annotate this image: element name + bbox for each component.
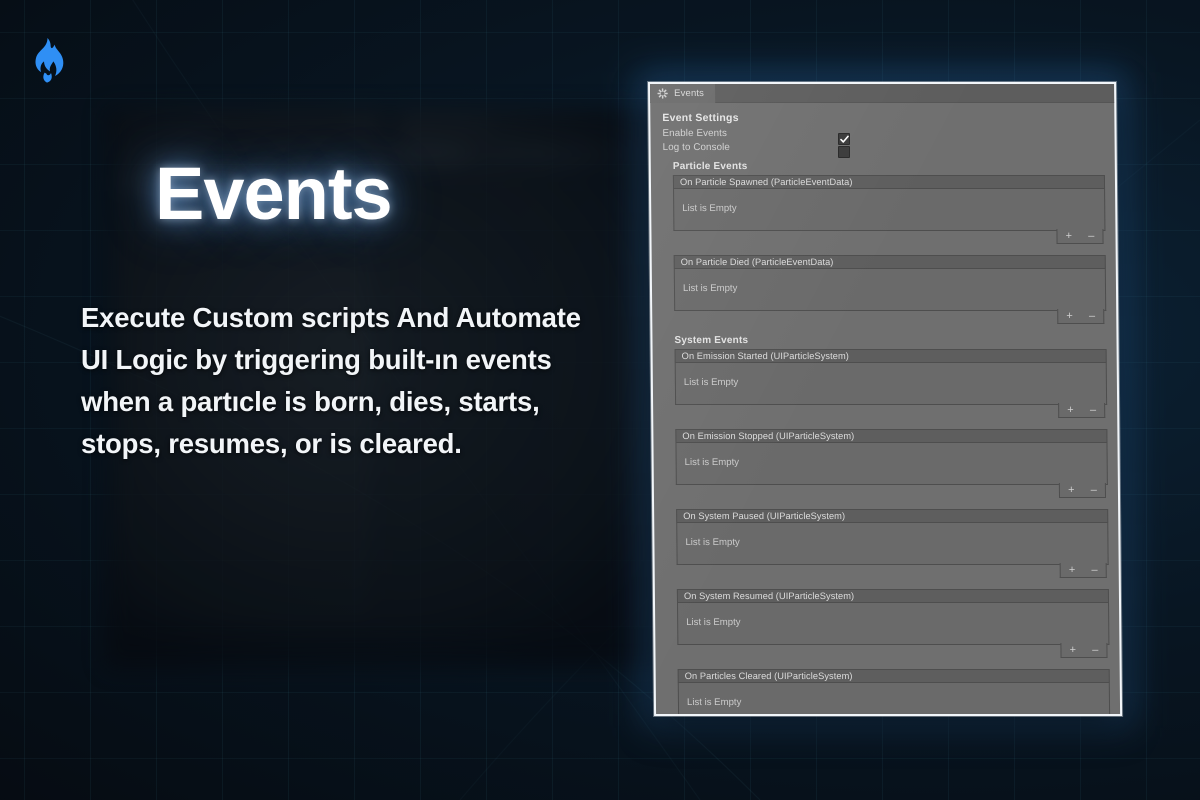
add-listener-button[interactable]: + <box>1063 230 1076 241</box>
panel-tab-bar: Events <box>650 84 1114 103</box>
event-empty-text: List is Empty <box>673 189 1105 231</box>
remove-listener-button[interactable]: – <box>1086 310 1098 321</box>
event-list-on-particle-died: On Particle Died (ParticleEventData) Lis… <box>674 255 1107 326</box>
event-footer: + – <box>675 405 1107 420</box>
flame-logo <box>24 36 68 84</box>
event-list-on-system-resumed: On System Resumed (UIParticleSystem) Lis… <box>677 589 1110 660</box>
script-gear-icon <box>657 87 668 98</box>
enable-events-checkbox[interactable] <box>838 133 850 145</box>
remove-listener-button[interactable]: – <box>1087 404 1099 415</box>
event-empty-text: List is Empty <box>676 523 1108 565</box>
event-header: On System Resumed (UIParticleSystem) <box>677 589 1109 603</box>
remove-listener-button[interactable]: – <box>1089 644 1101 655</box>
group-title-particle-events: Particle Events <box>673 161 1105 172</box>
event-empty-text: List is Empty <box>675 443 1107 485</box>
event-header: On System Paused (UIParticleSystem) <box>676 509 1108 523</box>
event-footer: + – <box>677 645 1109 660</box>
event-footer: + – <box>674 311 1106 326</box>
event-list-on-emission-started: On Emission Started (UIParticleSystem) L… <box>675 349 1108 420</box>
event-list-on-system-paused: On System Paused (UIParticleSystem) List… <box>676 509 1109 580</box>
group-title-system-events: System Events <box>674 335 1106 346</box>
setting-row-enable-events[interactable]: Enable Events <box>662 127 1104 140</box>
remove-listener-button[interactable]: – <box>1088 484 1100 495</box>
event-header: On Particles Cleared (UIParticleSystem) <box>678 669 1110 683</box>
page-title: Events <box>155 157 392 231</box>
hero-description: Execute Custom scripts And Automate UI L… <box>81 297 581 465</box>
event-header: On Particle Died (ParticleEventData) <box>674 255 1106 269</box>
event-header: On Particle Spawned (ParticleEventData) <box>673 175 1105 189</box>
tab-events-label: Events <box>674 87 704 98</box>
event-list-buttons: + – <box>1058 403 1105 418</box>
tab-events[interactable]: Events <box>650 83 715 102</box>
add-listener-button[interactable]: + <box>1064 404 1077 415</box>
event-footer: + – <box>673 231 1105 246</box>
setting-row-log-to-console[interactable]: Log to Console <box>663 141 1105 154</box>
promo-slide: Events Execute Custom scripts And Automa… <box>0 0 1200 800</box>
event-list-buttons: + – <box>1059 483 1106 498</box>
events-inspector-panel: Events Event Settings Enable Events Log … <box>648 82 1122 716</box>
add-listener-button[interactable]: + <box>1067 644 1080 655</box>
event-empty-text: List is Empty <box>675 363 1107 405</box>
event-empty-text: List is Empty <box>678 683 1110 716</box>
event-list-buttons: + – <box>1057 309 1104 324</box>
event-list-on-particle-spawned: On Particle Spawned (ParticleEventData) … <box>673 175 1106 246</box>
event-settings-title: Event Settings <box>662 112 1104 124</box>
flame-icon <box>24 36 68 84</box>
event-list-buttons: + – <box>1060 563 1107 578</box>
panel-content: Event Settings Enable Events Log to Cons… <box>650 103 1120 716</box>
event-header: On Emission Started (UIParticleSystem) <box>675 349 1107 363</box>
add-listener-button[interactable]: + <box>1063 310 1076 321</box>
add-listener-button[interactable]: + <box>1065 484 1078 495</box>
event-list-buttons: + – <box>1056 229 1103 244</box>
event-footer: + – <box>676 485 1108 500</box>
panel-frame: Events Event Settings Enable Events Log … <box>648 82 1122 716</box>
check-icon <box>840 135 849 144</box>
remove-listener-button[interactable]: – <box>1088 564 1100 575</box>
event-empty-text: List is Empty <box>674 269 1106 311</box>
log-to-console-label: Log to Console <box>663 142 730 153</box>
event-list-buttons: + – <box>1060 643 1107 658</box>
event-empty-text: List is Empty <box>677 603 1109 645</box>
event-header: On Emission Stopped (UIParticleSystem) <box>675 429 1107 443</box>
event-list-on-emission-stopped: On Emission Stopped (UIParticleSystem) L… <box>675 429 1108 500</box>
log-to-console-checkbox[interactable] <box>838 146 850 158</box>
event-footer: + – <box>677 565 1109 580</box>
remove-listener-button[interactable]: – <box>1085 230 1097 241</box>
enable-events-label: Enable Events <box>662 128 727 139</box>
event-list-on-particles-cleared: On Particles Cleared (UIParticleSystem) … <box>678 669 1111 716</box>
add-listener-button[interactable]: + <box>1066 564 1079 575</box>
